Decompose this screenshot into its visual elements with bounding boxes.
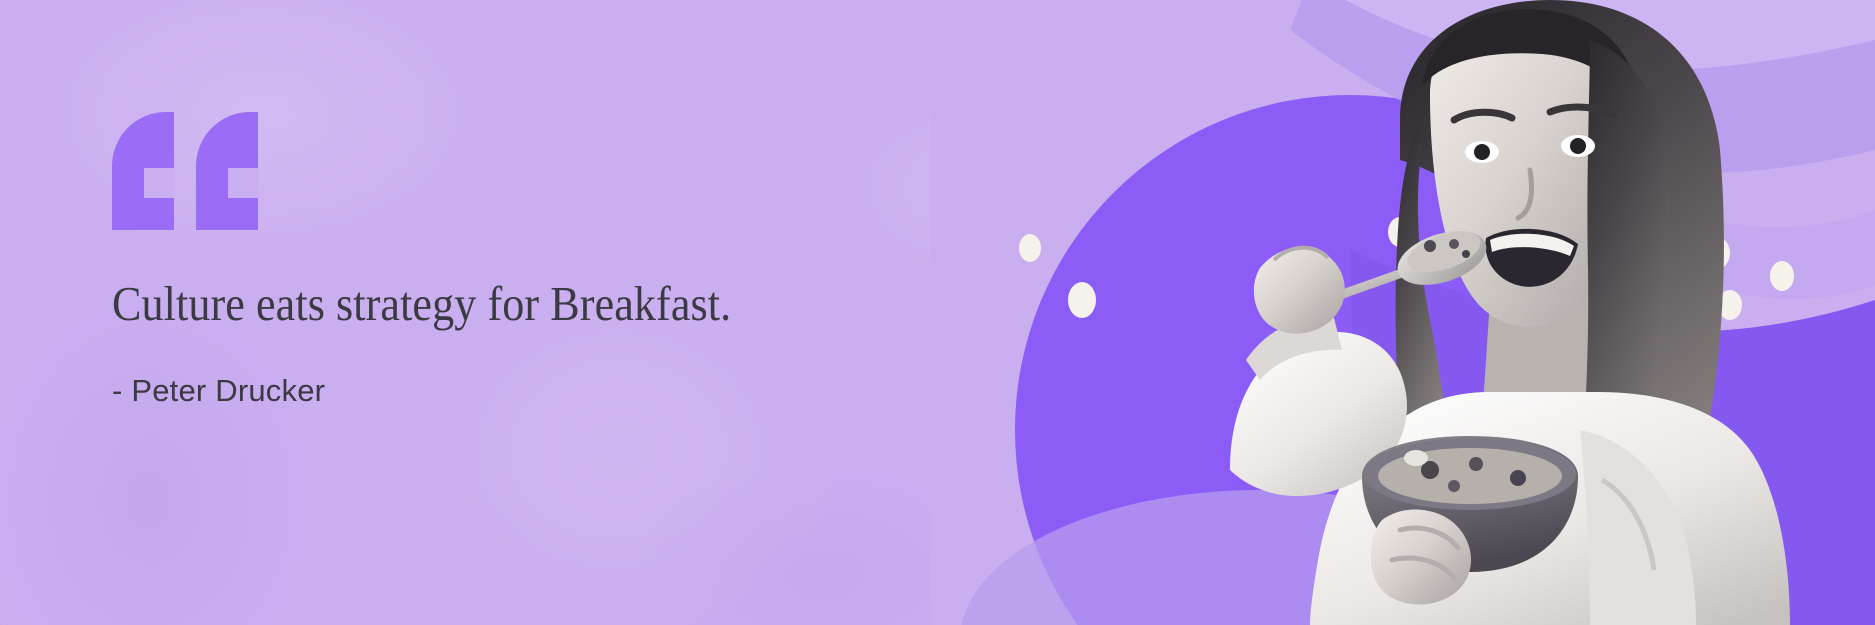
- open-quote-icon: [112, 112, 912, 230]
- cereal-bit: [1424, 240, 1436, 252]
- cereal-bit: [1462, 250, 1470, 258]
- cereal-bit: [1449, 239, 1459, 249]
- quote-glyph-right: [196, 112, 258, 230]
- eye-right-pupil: [1570, 138, 1586, 154]
- quote-block: Culture eats strategy for Breakfast. - P…: [112, 112, 912, 409]
- quote-glyph-left: [112, 112, 174, 230]
- bowl-banana: [1404, 450, 1428, 466]
- bowl-cereal-bit: [1469, 457, 1483, 471]
- bowl-cereal-bit: [1448, 480, 1460, 492]
- bowl-cereal-bit: [1510, 470, 1526, 486]
- eye-left-pupil: [1474, 144, 1490, 160]
- quote-banner: Culture eats strategy for Breakfast. - P…: [0, 0, 1875, 625]
- quote-text: Culture eats strategy for Breakfast.: [112, 276, 832, 333]
- artwork-panel: [930, 0, 1875, 625]
- quote-author: - Peter Drucker: [112, 373, 912, 409]
